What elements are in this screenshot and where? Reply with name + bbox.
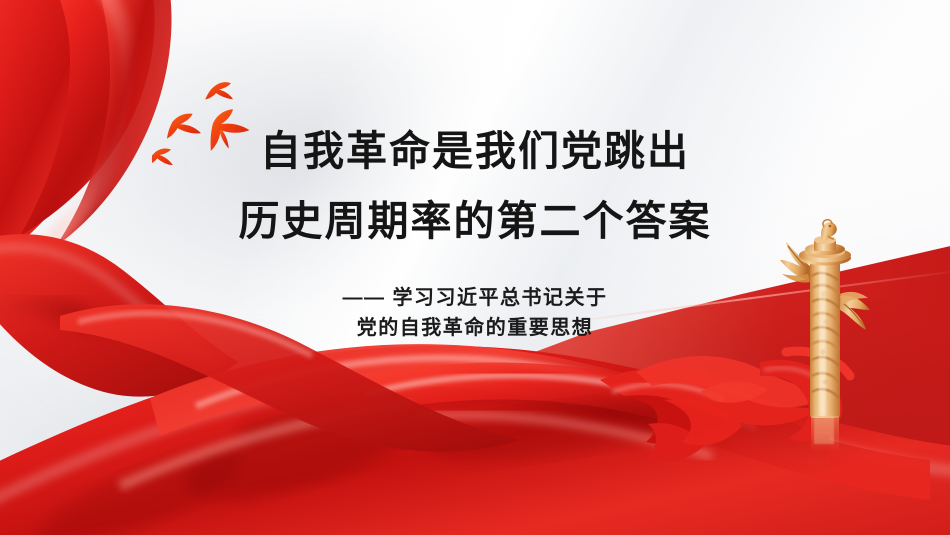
slide-canvas: 自我革命是我们党跳出 历史周期率的第二个答案 —— 学习习近平总书记关于 党的自… bbox=[0, 0, 950, 535]
flying-doves bbox=[152, 72, 272, 172]
huabiao-column bbox=[766, 218, 886, 458]
